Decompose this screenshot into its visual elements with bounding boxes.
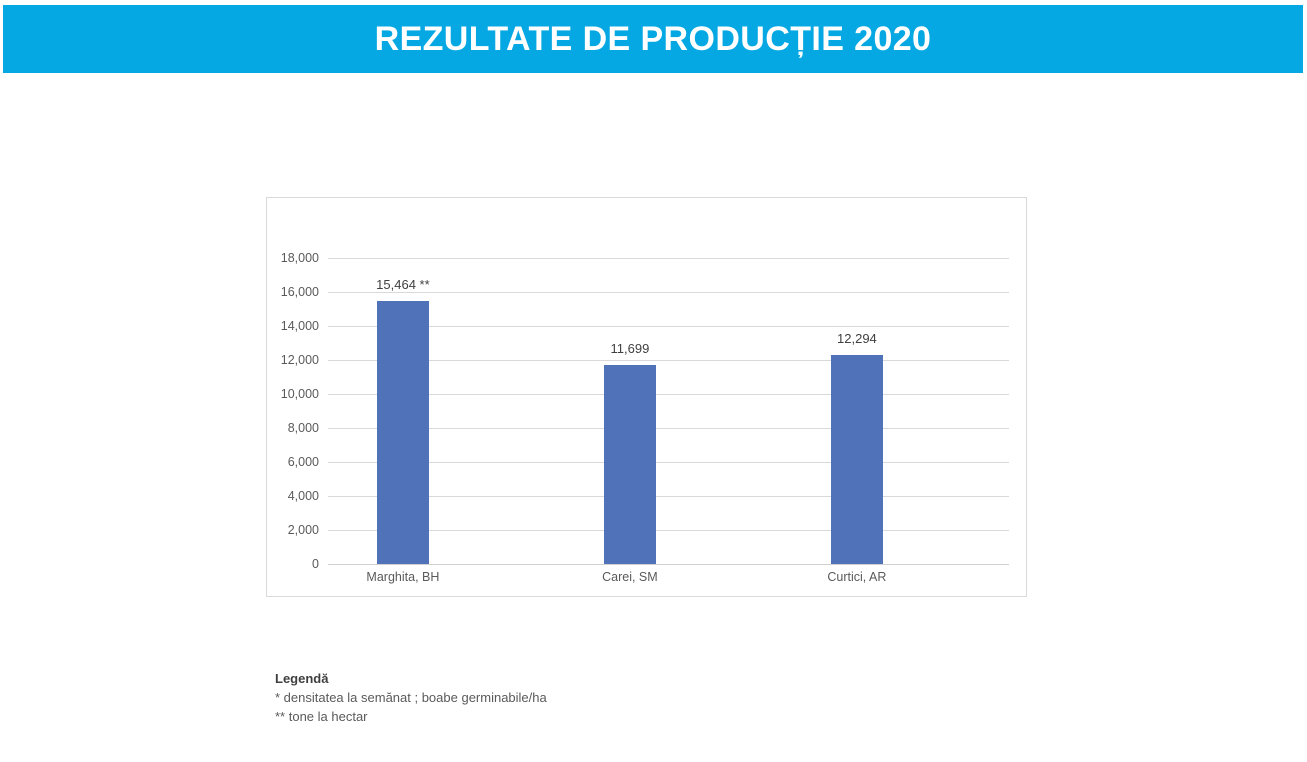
y-axis-tick-label: 0 (312, 557, 319, 571)
bar (377, 301, 429, 564)
bar-chart: 02,0004,0006,0008,00010,00012,00014,0001… (266, 197, 1027, 597)
gridline (328, 394, 1009, 395)
y-axis-tick-label: 18,000 (281, 251, 319, 265)
y-axis-tick-label: 16,000 (281, 285, 319, 299)
y-axis-tick-label: 14,000 (281, 319, 319, 333)
bar-value-label: 15,464 ** (376, 277, 430, 292)
gridline (328, 292, 1009, 293)
plot-area: 15,464 **11,69912,294 (328, 258, 1009, 564)
y-axis-tick-label: 4,000 (288, 489, 319, 503)
gridline (328, 530, 1009, 531)
y-axis-tick-label: 8,000 (288, 421, 319, 435)
y-axis-tick-label: 6,000 (288, 455, 319, 469)
x-axis-category-label: Curtici, AR (827, 570, 886, 584)
bar (831, 355, 883, 564)
x-axis-category-label: Carei, SM (602, 570, 658, 584)
y-axis-tick-label: 10,000 (281, 387, 319, 401)
x-axis: Marghita, BHCarei, SMCurtici, AR (328, 570, 1009, 590)
gridline (328, 496, 1009, 497)
gridline (328, 428, 1009, 429)
title-banner: REZULTATE DE PRODUCȚIE 2020 (3, 5, 1303, 73)
y-axis: 02,0004,0006,0008,00010,00012,00014,0001… (267, 258, 319, 564)
legend-block: Legendă * densitatea la semănat ; boabe … (275, 670, 775, 726)
x-axis-category-label: Marghita, BH (366, 570, 439, 584)
legend-note-single-star: * densitatea la semănat ; boabe germinab… (275, 688, 775, 707)
bar (604, 365, 656, 564)
legend-heading: Legendă (275, 670, 775, 688)
page-title: REZULTATE DE PRODUCȚIE 2020 (375, 22, 932, 56)
gridline (328, 360, 1009, 361)
y-axis-tick-label: 2,000 (288, 523, 319, 537)
gridline (328, 258, 1009, 259)
bar-value-label: 11,699 (611, 341, 650, 356)
gridline (328, 462, 1009, 463)
gridline (328, 564, 1009, 565)
legend-note-double-star: ** tone la hectar (275, 707, 775, 726)
y-axis-tick-label: 12,000 (281, 353, 319, 367)
bar-value-label: 12,294 (837, 331, 877, 346)
gridline (328, 326, 1009, 327)
